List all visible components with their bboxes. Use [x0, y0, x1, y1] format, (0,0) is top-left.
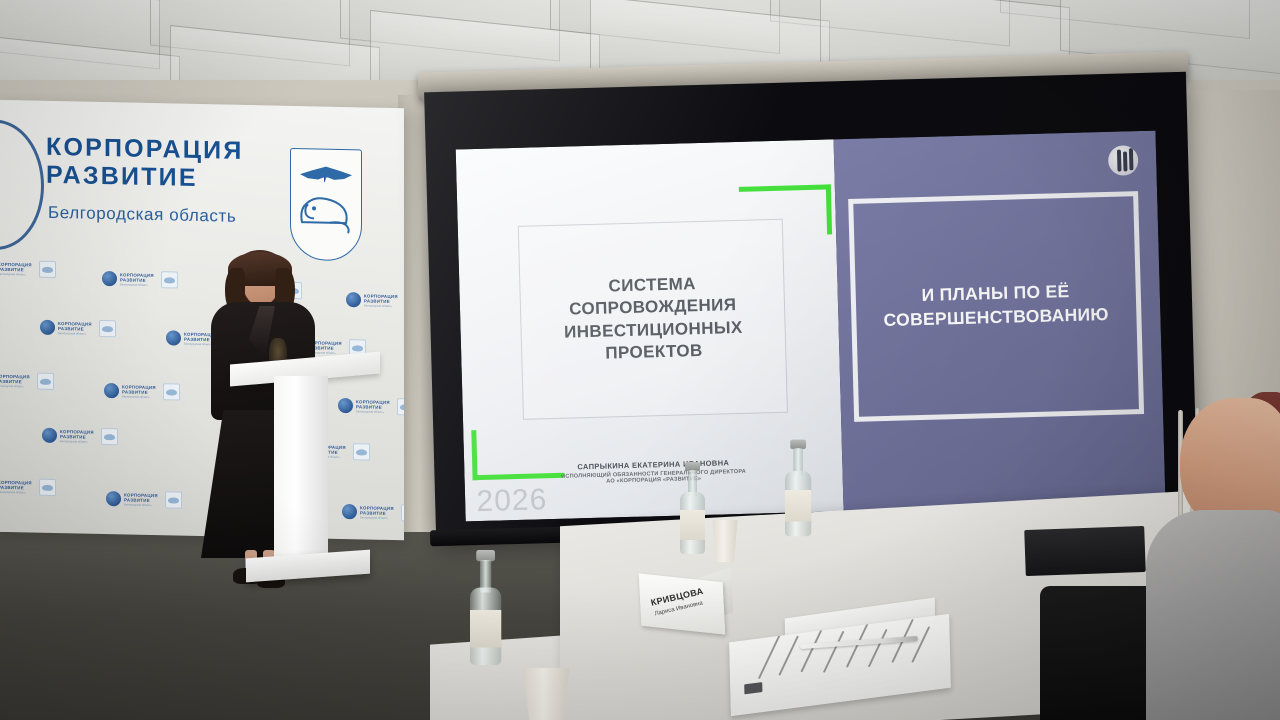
seated-person-foreground — [1138, 398, 1280, 720]
slide-title: СИСТЕМА СОПРОВОЖДЕНИЯ ИНВЕСТИЦИОННЫХ ПРО… — [563, 271, 744, 366]
presentation-slide: СИСТЕМА СОПРОВОЖДЕНИЯ ИНВЕСТИЦИОННЫХ ПРО… — [456, 131, 1166, 522]
green-bracket-top-right-icon — [739, 184, 832, 236]
foreground-person-face — [1180, 398, 1280, 528]
table-nameplate: КРИВЦОВА Лариса Ивановна — [640, 578, 736, 638]
presentation-room-photo: КОРПОРАЦИЯ РАЗВИТИЕ Белгородская область… — [0, 0, 1280, 720]
slide-right-panel: И ПЛАНЫ ПО ЕЁ СОВЕРШЕНСТВОВАНИЮ — [834, 131, 1166, 512]
dark-wall-panel — [1024, 526, 1146, 576]
slide-right-box: И ПЛАНЫ ПО ЕЁ СОВЕРШЕНСТВОВАНИЮ — [848, 191, 1144, 422]
wave-circle-logo-icon — [1108, 145, 1139, 176]
projector-screen: СИСТЕМА СОПРОВОЖДЕНИЯ ИНВЕСТИЦИОННЫХ ПРО… — [424, 72, 1198, 537]
slide-year: 2026 — [476, 483, 548, 519]
foreground-person-sweater — [1146, 510, 1280, 720]
slide-subtitle: И ПЛАНЫ ПО ЕЁ СОВЕРШЕНСТВОВАНИЮ — [853, 196, 1138, 417]
slide-title-box: СИСТЕМА СОПРОВОЖДЕНИЯ ИНВЕСТИЦИОННЫХ ПРО… — [518, 219, 788, 420]
podium — [230, 358, 380, 588]
